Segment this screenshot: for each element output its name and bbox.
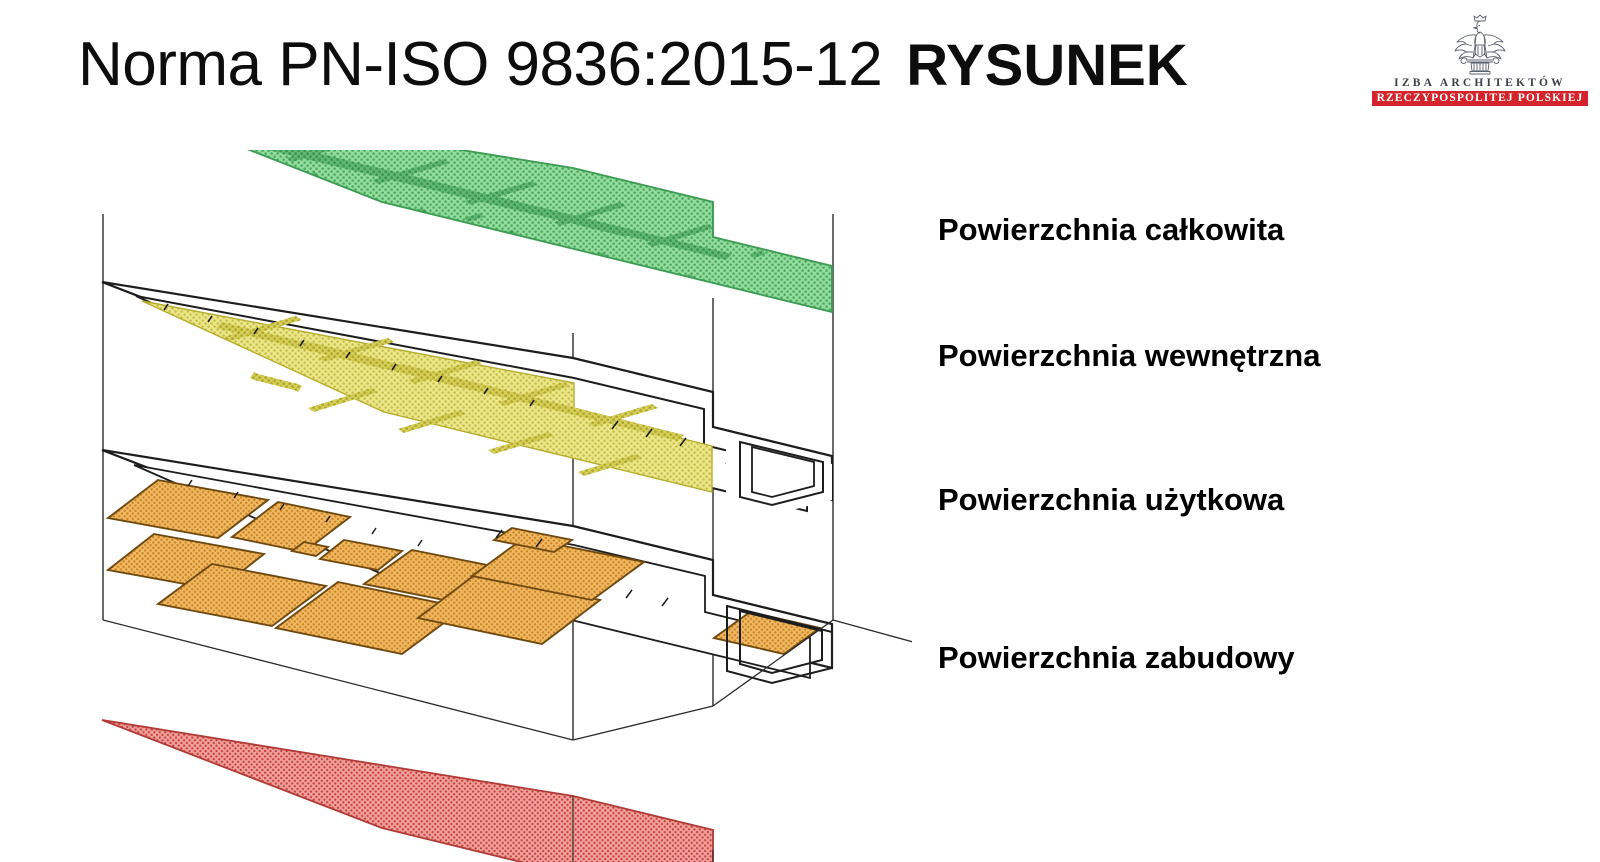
legend-item-total-area: Powierzchnia całkowita	[938, 214, 1284, 245]
legend-item-built-up-area: Powierzchnia zabudowy	[938, 642, 1295, 673]
title-bold-text: RYSUNEK	[906, 37, 1187, 95]
legend-list: Powierzchnia całkowita Powierzchnia wewn…	[938, 150, 1498, 710]
diagram-svg	[72, 150, 912, 862]
page-title: Norma PN-ISO 9836:2015-12 RYSUNEK	[78, 34, 1188, 96]
logo-text-line-1: IZBA ARCHITEKTÓW	[1394, 77, 1566, 89]
layer-total-area	[102, 150, 862, 312]
exploded-axonometric-diagram	[72, 150, 912, 862]
title-normal-text: Norma PN-ISO 9836:2015-12	[78, 34, 882, 96]
slide-canvas: Norma PN-ISO 9836:2015-12 RYSUNEK	[0, 0, 1600, 862]
eagle-on-column-icon	[1445, 14, 1515, 76]
logo-text-line-2: RZECZYPOSPOLITEJ POLSKIEJ	[1372, 91, 1589, 106]
izba-architektow-logo: IZBA ARCHITEKTÓW RZECZYPOSPOLITEJ POLSKI…	[1392, 14, 1568, 110]
legend-item-usable-area: Powierzchnia użytkowa	[938, 484, 1284, 515]
legend-item-internal-area: Powierzchnia wewnętrzna	[938, 340, 1320, 371]
layer-built-up-area	[102, 720, 832, 862]
